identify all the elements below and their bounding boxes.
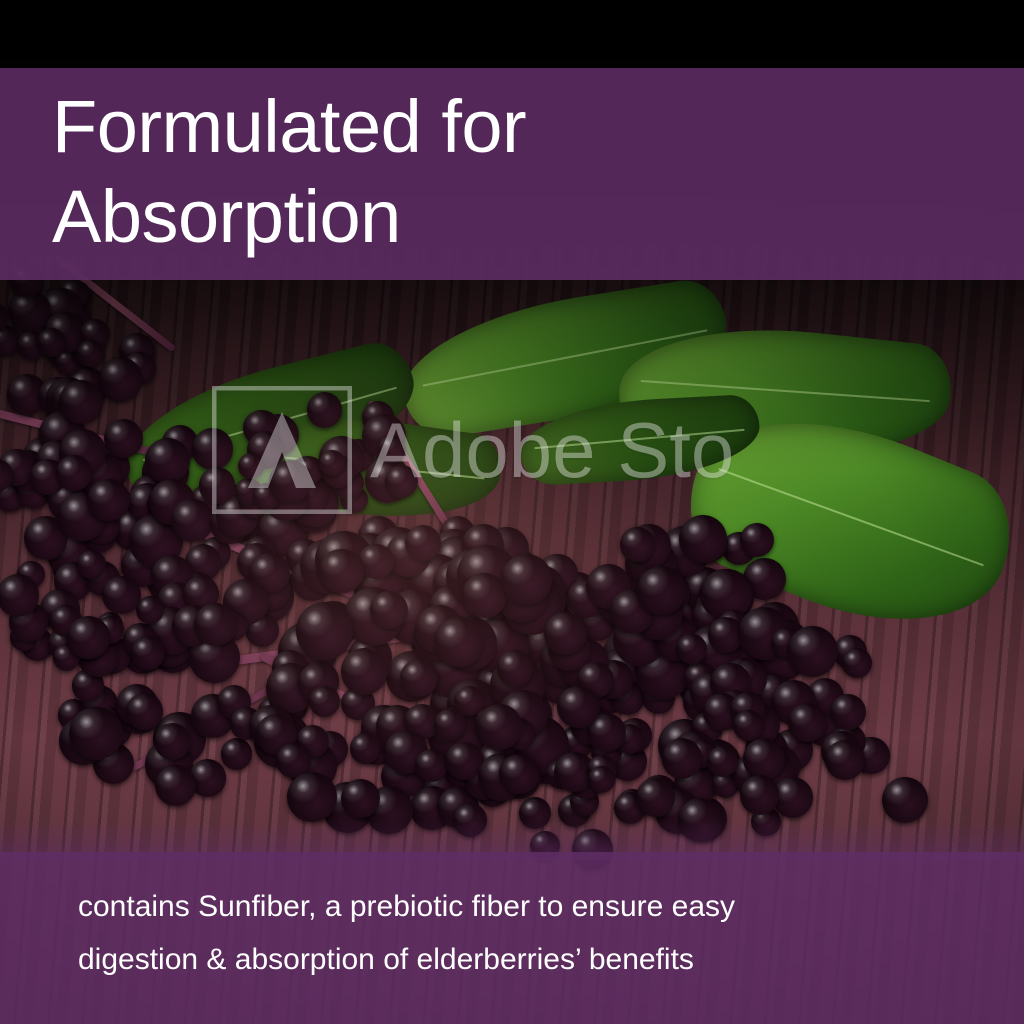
subtext-line-2: digestion & absorption of elderberries’ … bbox=[78, 933, 964, 986]
image-canvas: Adobe Sto Formulated for Absorption cont… bbox=[0, 0, 1024, 1024]
subtext-line-1: contains Sunfiber, a prebiotic fiber to … bbox=[78, 880, 964, 933]
headline-line-2: Absorption bbox=[52, 172, 1024, 262]
headline-line-1: Formulated for bbox=[52, 82, 1024, 172]
top-banner: Formulated for Absorption bbox=[0, 68, 1024, 280]
bottom-banner: contains Sunfiber, a prebiotic fiber to … bbox=[0, 852, 1024, 1024]
